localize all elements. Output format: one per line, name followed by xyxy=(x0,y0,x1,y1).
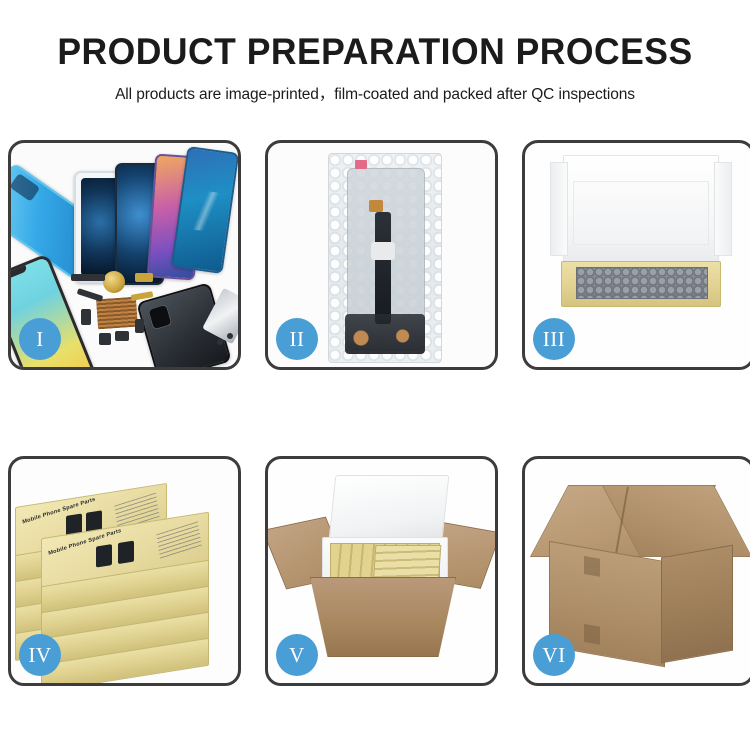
small-part-vibrator xyxy=(135,319,144,333)
process-step-4[interactable]: Mobile Phone Spare Parts Mobile Phone Sp… xyxy=(8,456,241,686)
infographic-page: PRODUCT PREPARATION PROCESS All products… xyxy=(0,0,750,750)
page-title: PRODUCT PREPARATION PROCESS xyxy=(15,33,735,70)
screw-part xyxy=(217,339,223,345)
process-step-6[interactable]: VI xyxy=(522,456,750,686)
small-part-flex xyxy=(77,288,104,302)
grey-foam-insert xyxy=(576,267,708,299)
box-label-phone-image xyxy=(118,541,134,565)
flex-cable xyxy=(375,212,391,324)
step-badge-6: VI xyxy=(533,634,575,676)
page-subtitle: All products are image-printed，film-coat… xyxy=(0,82,750,104)
gold-connector xyxy=(369,200,383,212)
step-badge-4: IV xyxy=(19,634,61,676)
process-step-3[interactable]: III xyxy=(522,140,750,370)
cable-coil-bottom xyxy=(345,314,425,354)
box-inner-panel xyxy=(573,181,709,245)
screw-part xyxy=(227,333,233,339)
tape-patch-bottom xyxy=(584,624,600,645)
small-part-gold-connector xyxy=(135,273,153,282)
step-badge-5: V xyxy=(276,634,318,676)
bubble-wrap-bag xyxy=(328,153,442,363)
copper-shield-part xyxy=(96,297,138,330)
small-part-strip xyxy=(71,274,105,281)
step-badge-1: I xyxy=(19,318,61,360)
speaker-mesh-coin-part xyxy=(103,271,125,293)
header: PRODUCT PREPARATION PROCESS All products… xyxy=(0,0,750,104)
box-label-text-1: Mobile Phone Spare Parts xyxy=(22,497,96,526)
box-label-phone-image xyxy=(96,544,112,568)
process-step-1[interactable]: I xyxy=(8,140,241,370)
pink-label-tab xyxy=(355,160,367,169)
process-grid: I II III xyxy=(8,140,742,686)
step-badge-3: III xyxy=(533,318,575,360)
foam-box-lid xyxy=(329,475,450,539)
tape-patch-top xyxy=(584,556,600,577)
small-part-bracket xyxy=(115,331,129,341)
process-step-5[interactable]: V xyxy=(265,456,498,686)
small-part-camera xyxy=(99,333,111,345)
carton-body xyxy=(310,577,456,657)
carton-side-face xyxy=(661,545,733,664)
small-part-button xyxy=(81,309,91,325)
box-tray-yellow xyxy=(561,261,721,307)
step-badge-2: II xyxy=(276,318,318,360)
box-label-spec-lines xyxy=(156,521,202,559)
process-step-2[interactable]: II xyxy=(265,140,498,370)
